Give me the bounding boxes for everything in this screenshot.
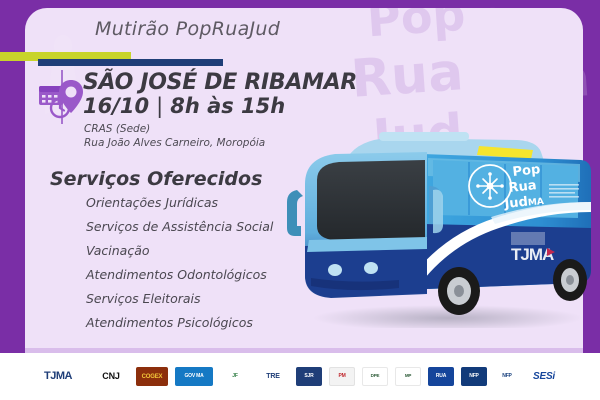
bus-brand-rua: Rua — [508, 178, 537, 196]
card-watermark-rua: Rua — [349, 42, 465, 110]
venue-address: Rua João Alves Carneiro, Moropóia — [84, 136, 265, 150]
datetime-separator: | — [149, 94, 170, 118]
list-item: Atendimentos Psicológicos — [86, 315, 273, 330]
partner-logo-bar: TJMA CNJ COGEX GOV MA JF TRE SJR PM DPE … — [0, 353, 600, 400]
list-item: Serviços de Assistência Social — [86, 219, 273, 234]
venue-name: CRAS (Sede) — [84, 122, 265, 136]
event-date: 16/10 — [83, 94, 149, 118]
logo-defensoria: DPE — [362, 367, 388, 386]
logo-group: TJMA CNJ COGEX GOV MA JF TRE SJR PM DPE … — [30, 367, 561, 386]
bus-wheel-front — [438, 267, 480, 315]
logo-ministerio-publico: MP — [395, 367, 421, 386]
logo-tre: TRE — [257, 367, 289, 386]
list-item: Serviços Eleitorais — [86, 291, 273, 306]
logo-nfp: NFP — [461, 367, 487, 386]
list-item: Vacinação — [86, 243, 273, 258]
logo-nfp-alt: NFP — [494, 367, 520, 386]
logo-sesi: SESi — [527, 367, 561, 386]
bus-brand-pop: Pop — [512, 162, 541, 180]
list-item: Atendimentos Odontológicos — [86, 267, 273, 282]
list-item: Orientações Jurídicas — [86, 195, 273, 210]
event-venue: CRAS (Sede) Rua João Alves Carneiro, Mor… — [84, 122, 265, 150]
logo-policia-militar: PM — [329, 367, 355, 386]
event-city: SÃO JOSÉ DE RIBAMAR — [83, 70, 357, 95]
logo-gov-ma: GOV MA — [175, 367, 213, 386]
bus-illustration: Pop Rua JudMA TJMA — [283, 128, 598, 328]
logo-cogex: COGEX — [136, 367, 168, 386]
page-title: Mutirão PopRuaJud — [95, 18, 280, 40]
services-heading: Serviços Oferecidos — [50, 168, 262, 190]
event-hours: 8h às 15h — [170, 94, 285, 118]
accent-bar-blue — [38, 59, 223, 66]
poster-root: Pop Rua Jud Pop Rua Jud Mutirão PopRuaJu… — [0, 0, 600, 400]
logo-tjma: TJMA — [30, 367, 86, 386]
card-watermark-pop: Pop — [365, 8, 467, 47]
services-list: Orientações Jurídicas Serviços de Assist… — [86, 195, 273, 339]
bus-wheel-rear — [553, 259, 587, 301]
logo-cnj: CNJ — [93, 367, 129, 386]
logo-justica-federal: JF — [220, 367, 250, 386]
event-datetime: 16/10|8h às 15h — [83, 94, 285, 118]
logo-rua: RUA — [428, 367, 454, 386]
logo-sao-jose-ribamar: SJR — [296, 367, 322, 386]
